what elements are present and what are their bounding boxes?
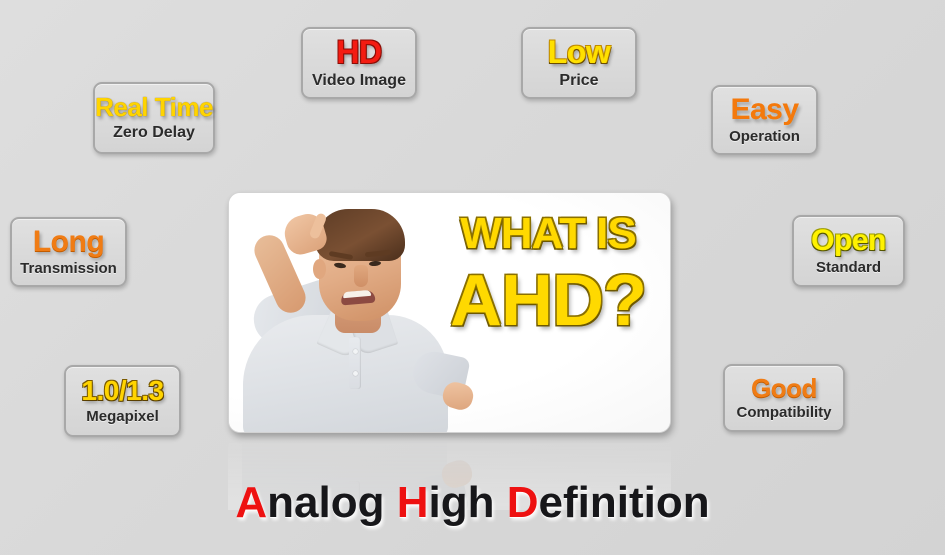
badge-headline: Low: [548, 36, 610, 68]
badge-subtitle: Zero Delay: [113, 124, 195, 142]
feature-badge-good-compatibility[interactable]: GoodCompatibility: [723, 364, 845, 432]
ahd-photo-card: WHAT IS AHD?: [228, 192, 671, 433]
badge-subtitle: Video Image: [312, 72, 406, 90]
badge-subtitle: Price: [559, 72, 598, 90]
badge-subtitle: Operation: [729, 129, 800, 146]
badge-headline: Good: [751, 375, 817, 401]
confused-man-illustration: [237, 197, 467, 433]
page-title-part: A: [235, 478, 267, 527]
infographic-canvas: Real TimeZero DelayHDVideo ImageLowPrice…: [0, 0, 945, 555]
page-title-part: nalog: [267, 478, 397, 527]
badge-headline: Open: [811, 226, 886, 256]
badge-subtitle: Standard: [816, 260, 881, 277]
photo-headline: WHAT IS AHD?: [442, 213, 654, 336]
feature-badge-easy-operation[interactable]: EasyOperation: [711, 85, 818, 155]
feature-badge-hd[interactable]: HDVideo Image: [301, 27, 417, 99]
feature-badge-real-time[interactable]: Real TimeZero Delay: [93, 82, 215, 154]
page-title-part: efinition: [539, 478, 710, 527]
badge-headline: HD: [336, 36, 381, 68]
badge-headline: 1.0/1.3: [81, 377, 163, 405]
page-title-part: igh: [429, 478, 507, 527]
feature-badge-low-price[interactable]: LowPrice: [521, 27, 637, 99]
page-title: Analog High Definition: [0, 478, 945, 528]
feature-badge-open-standard[interactable]: OpenStandard: [792, 215, 905, 287]
feature-badge-megapixel[interactable]: 1.0/1.3Megapixel: [64, 365, 181, 437]
page-title-part: D: [507, 478, 539, 527]
badge-headline: Easy: [730, 95, 798, 125]
feature-badge-long-transmission[interactable]: LongTransmission: [10, 217, 127, 287]
badge-subtitle: Transmission: [20, 261, 117, 278]
badge-headline: Real Time: [95, 94, 213, 120]
page-title-part: H: [397, 478, 429, 527]
badge-subtitle: Megapixel: [86, 409, 159, 426]
badge-headline: Long: [33, 227, 104, 257]
photo-headline-line1: WHAT IS: [442, 213, 654, 255]
photo-inner: WHAT IS AHD?: [229, 193, 670, 432]
badge-subtitle: Compatibility: [736, 405, 831, 422]
photo-headline-line2: AHD?: [442, 267, 654, 336]
